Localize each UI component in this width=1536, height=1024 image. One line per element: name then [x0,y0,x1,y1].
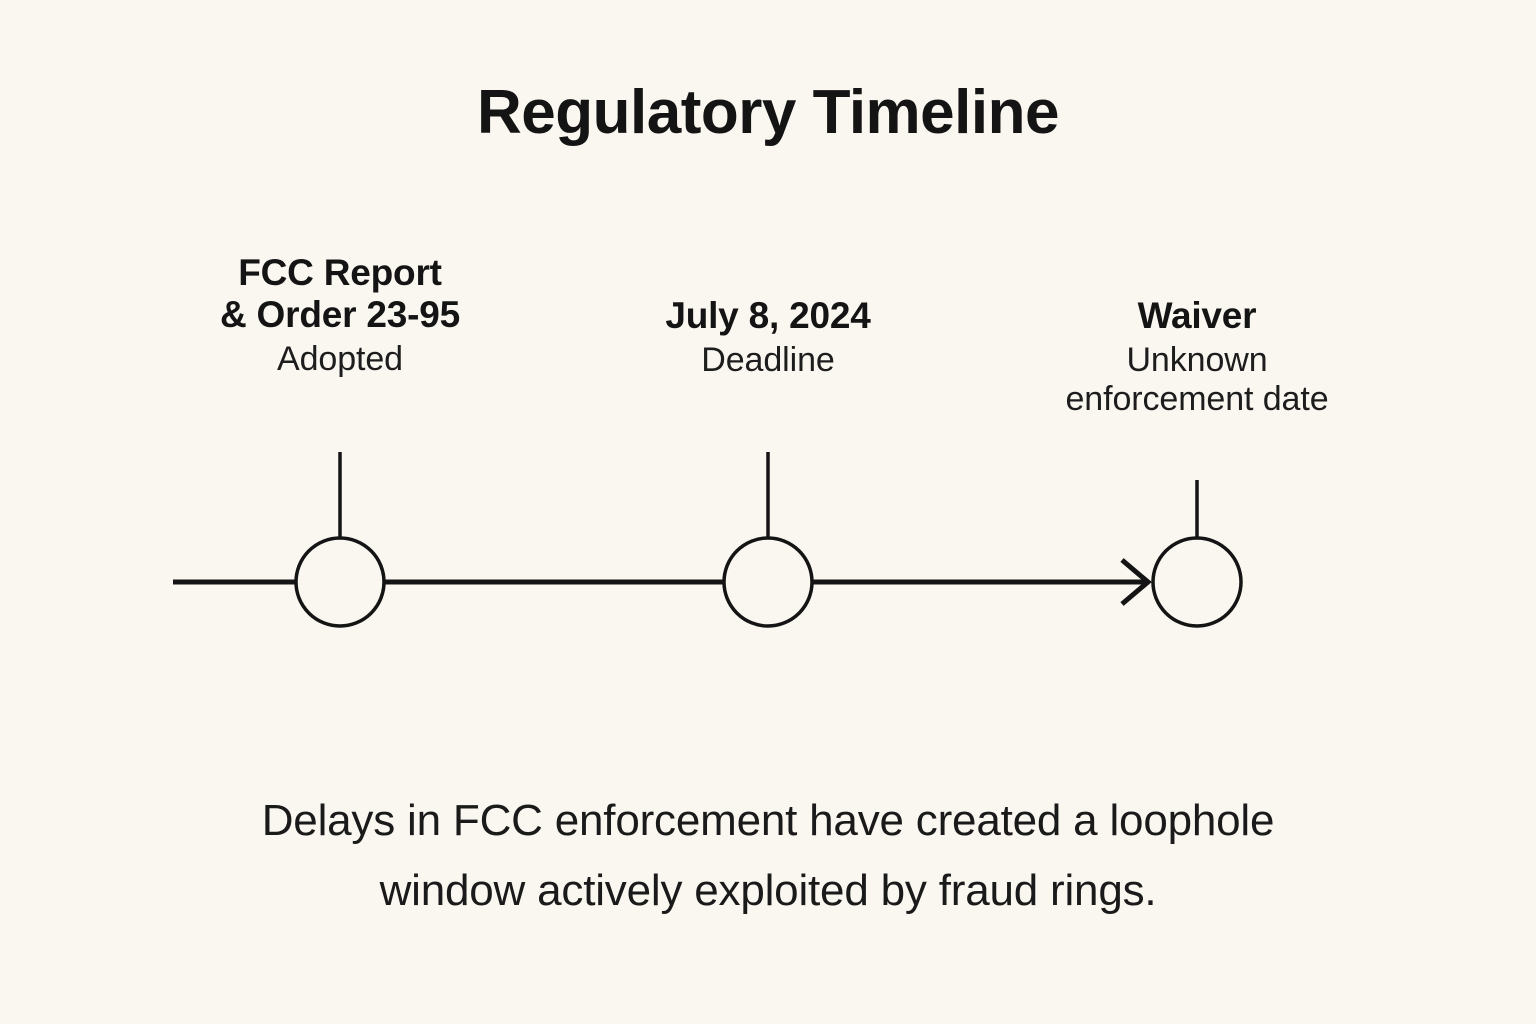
milestone-label-waiver-unknown: Waiver Unknown enforcement date [947,295,1447,419]
milestone-label-july-8-2024-deadline: July 8, 2024 Deadline [518,295,1018,380]
milestone-label-fcc-report-order: FCC Report & Order 23-95 Adopted [90,252,590,379]
milestone-title-2: July 8, 2024 [518,295,1018,337]
milestone-title-1: FCC Report & Order 23-95 [90,252,590,336]
milestone-node-2 [724,538,812,626]
milestone-subtitle-2: Deadline [518,341,1018,380]
timeline-infographic: Regulatory Timeline FCC Report & Order 2… [0,0,1536,1024]
milestone-subtitle-3: Unknown enforcement date [947,341,1447,419]
milestone-subtitle-1: Adopted [90,340,590,379]
milestone-node-1 [296,538,384,626]
caption-text: Delays in FCC enforcement have created a… [128,786,1408,925]
milestone-title-3: Waiver [947,295,1447,337]
page-title: Regulatory Timeline [0,82,1536,144]
milestone-node-3 [1153,538,1241,626]
right-arrow-icon [1122,560,1148,604]
